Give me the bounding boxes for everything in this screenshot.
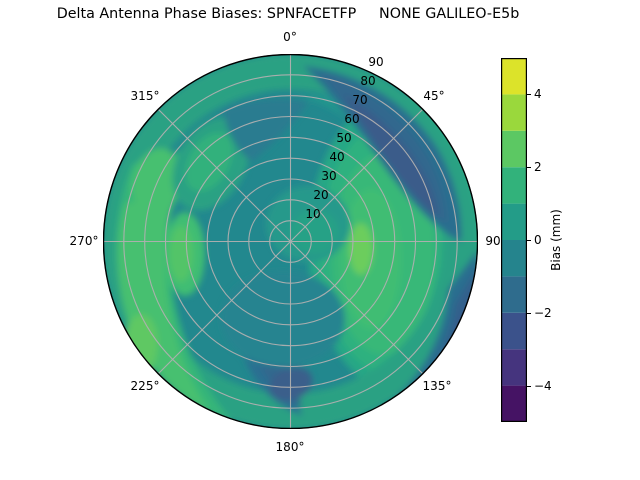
r-label-30: 30: [321, 169, 336, 183]
polar-grid-spokes: [103, 54, 478, 429]
r-label-40: 40: [329, 150, 344, 164]
r-label-90: 90: [368, 55, 383, 69]
cbar-tick-line-4: [527, 94, 531, 95]
theta-label-0: 0°: [283, 30, 297, 44]
cbar-tick--4: −4: [534, 379, 552, 393]
r-label-20: 20: [313, 188, 328, 202]
r-label-70: 70: [352, 93, 367, 107]
colorbar[interactable]: [501, 58, 527, 422]
theta-label-180: 180°: [276, 440, 305, 454]
theta-label-270: 270°: [70, 234, 99, 248]
cbar-tick-line--2: [527, 313, 531, 314]
colorbar-axis-label: Bias (mm): [549, 209, 563, 271]
cbar-tick--2: −2: [534, 306, 552, 320]
cbar-tick-line-2: [527, 167, 531, 168]
page-title: Delta Antenna Phase Biases: SPNFACETFP N…: [0, 6, 576, 22]
polar-axes[interactable]: [103, 54, 478, 429]
colorbar-gradient: [501, 58, 527, 422]
r-label-50: 50: [336, 131, 351, 145]
theta-label-225: 225°: [131, 379, 160, 393]
figure-canvas: Delta Antenna Phase Biases: SPNFACETFP N…: [0, 0, 640, 480]
cbar-tick-2: 2: [534, 160, 542, 174]
r-label-10: 10: [305, 207, 320, 221]
cbar-tick-line-0: [527, 240, 531, 241]
polar-contour-plot: [103, 54, 478, 429]
cbar-tick-4: 4: [534, 87, 542, 101]
r-label-60: 60: [344, 112, 359, 126]
r-label-80: 80: [360, 74, 375, 88]
theta-label-315: 315°: [131, 89, 160, 103]
theta-label-135: 135°: [423, 379, 452, 393]
cbar-tick-line--4: [527, 386, 531, 387]
cbar-tick-0: 0: [534, 233, 542, 247]
theta-label-45: 45°: [423, 89, 444, 103]
